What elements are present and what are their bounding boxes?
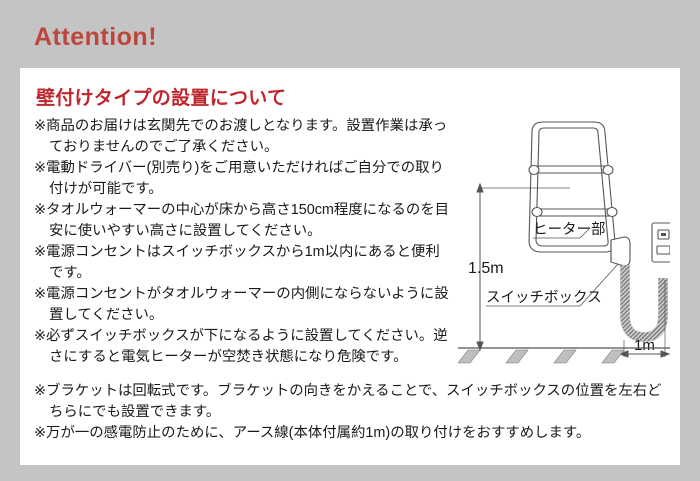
note-item: ※ブラケットは回転式です。ブラケットの向きをかえることで、スイッチボックスの位置… <box>34 381 672 423</box>
note-item: ※電源コンセントがタオルウォーマーの内側にならないように設置してください。 <box>34 284 454 326</box>
note-text: ※電動ドライバー(別売り)をご用意いただければご自分での取り付けが可能です。 <box>34 160 444 197</box>
note-text: ※万が一の感電防止のために、アース線(本体付属約1m)の取り付けをおすすめします… <box>34 425 590 441</box>
note-item: ※商品のお届けは玄関先でのお渡しとなります。設置作業は承っておりませんのでご了承… <box>34 116 454 158</box>
notes-wide-block: ※ブラケットは回転式です。ブラケットの向きをかえることで、スイッチボックスの位置… <box>34 381 672 444</box>
note-text: ※タオルウォーマーの中心が床から高さ150cm程度になるのを目安に使いやすい高さ… <box>34 202 449 239</box>
note-text: ※商品のお届けは玄関先でのお渡しとなります。設置作業は承っておりませんのでご了承… <box>34 118 447 155</box>
section-heading: 壁付けタイプの設置について <box>36 83 286 110</box>
installation-diagram: 1.5m ヒーター部 スイッチボックス <box>458 110 670 372</box>
attention-title: Attention! <box>34 22 157 52</box>
content-panel: 壁付けタイプの設置について ※商品のお届けは玄関先でのお渡しとなります。設置作業… <box>20 68 680 465</box>
note-item: ※万が一の感電防止のために、アース線(本体付属約1m)の取り付けをおすすめします… <box>34 423 672 444</box>
switch-box <box>611 237 630 266</box>
note-text: ※ブラケットは回転式です。ブラケットの向きをかえることで、スイッチボックスの位置… <box>34 383 662 420</box>
wall-outlet-icon <box>652 223 670 262</box>
power-cord <box>625 265 663 337</box>
screenshot-root: Attention! 壁付けタイプの設置について ※商品のお届けは玄関先でのお渡… <box>0 0 700 481</box>
height-dimension-label: 1.5m <box>468 260 504 277</box>
heater-label: ヒーター部 <box>533 221 606 238</box>
note-item: ※タオルウォーマーの中心が床から高さ150cm程度になるのを目安に使いやすい高さ… <box>34 200 454 242</box>
note-text: ※電源コンセントがタオルウォーマーの内側にならないように設置してください。 <box>34 286 449 323</box>
note-item: ※電源コンセントはスイッチボックスから1m以内にあると便利です。 <box>34 242 454 284</box>
note-item: ※電動ドライバー(別売り)をご用意いただければご自分での取り付けが可能です。 <box>34 158 454 200</box>
switch-box-label: スイッチボックス <box>486 289 602 306</box>
note-item: ※必ずスイッチボックスが下になるように設置してください。逆さにすると電気ヒーター… <box>34 326 454 368</box>
notes-column: ※商品のお届けは玄関先でのお渡しとなります。設置作業は承っておりませんのでご了承… <box>34 116 454 368</box>
note-text: ※必ずスイッチボックスが下になるように設置してください。逆さにすると電気ヒーター… <box>34 328 448 365</box>
cord-dimension-label: 1m <box>634 337 655 354</box>
note-text: ※電源コンセントはスイッチボックスから1m以内にあると便利です。 <box>34 244 440 281</box>
